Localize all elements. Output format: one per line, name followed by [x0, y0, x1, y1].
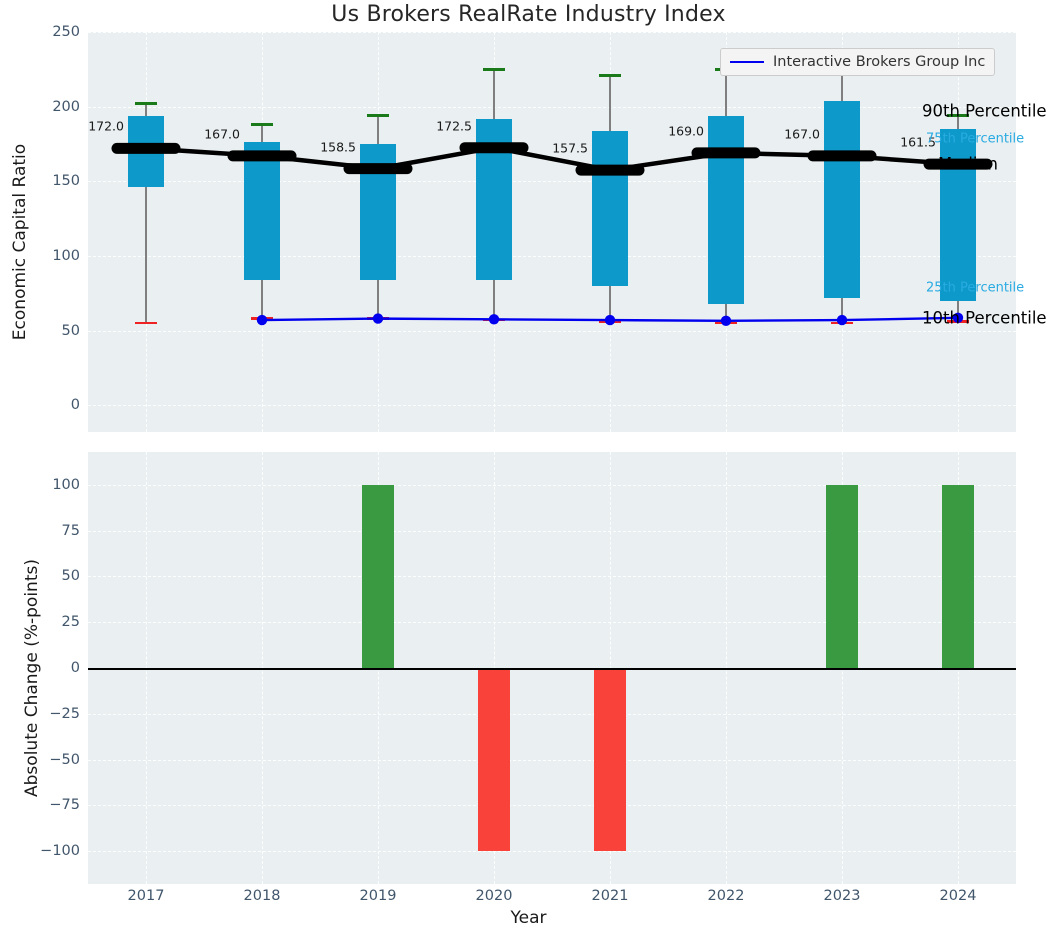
gridline	[88, 622, 1016, 623]
gridline	[88, 531, 1016, 532]
y-tick-label: 100	[28, 248, 80, 264]
x-tick-label: 2021	[592, 888, 629, 904]
y-tick-label: 150	[28, 173, 80, 189]
bar	[594, 668, 626, 851]
bar	[478, 668, 510, 851]
bar	[362, 485, 394, 668]
y-tick-label: 0	[28, 397, 80, 413]
median-value-label: 158.5	[320, 139, 356, 154]
gridline	[88, 714, 1016, 715]
interactive-brokers-data-point	[373, 313, 383, 323]
annotation-90th-percentile: 90th Percentile	[922, 102, 1047, 121]
y-tick-label: 100	[28, 477, 80, 493]
x-axis-label: Year	[0, 908, 1057, 928]
bottom-panel-y-axis-label: Absolute Change (%-points)	[22, 498, 42, 858]
interactive-brokers-data-point	[837, 315, 847, 325]
x-tick-label: 2023	[824, 888, 861, 904]
median-value-label: 172.0	[88, 119, 124, 134]
chart-figure: Us Brokers RealRate Industry Index 172.0…	[0, 0, 1057, 942]
y-tick-label: 50	[28, 323, 80, 339]
top-panel-y-axis-label: Economic Capital Ratio	[10, 72, 30, 412]
annotation-median: Median	[938, 155, 998, 174]
annotation-75th-percentile: 75th Percentile	[926, 132, 1024, 147]
annotation-25th-percentile: 25th Percentile	[926, 281, 1024, 296]
y-tick-label: 250	[28, 24, 80, 40]
x-tick-label: 2019	[360, 888, 397, 904]
x-tick-label: 2017	[128, 888, 165, 904]
bottom-panel-plot-area	[88, 452, 1016, 884]
bar	[942, 485, 974, 668]
gridline	[88, 805, 1016, 806]
top-panel-lines	[88, 32, 1016, 432]
gridline	[88, 760, 1016, 761]
median-value-label: 169.0	[668, 123, 704, 138]
gridline	[88, 485, 1016, 486]
interactive-brokers-data-point	[489, 314, 499, 324]
legend-label-interactive-brokers: Interactive Brokers Group Inc	[773, 54, 985, 70]
gridline	[88, 851, 1016, 852]
annotation-10th-percentile: 10th Percentile	[922, 309, 1047, 328]
top-panel-plot-area: 172.0167.0158.5172.5157.5169.0167.0161.5	[88, 32, 1016, 432]
x-tick-label: 2022	[708, 888, 745, 904]
y-tick-label: 200	[28, 99, 80, 115]
x-tick-label: 2018	[244, 888, 281, 904]
zero-baseline	[88, 668, 1016, 670]
interactive-brokers-data-point	[605, 315, 615, 325]
legend[interactable]: Interactive Brokers Group Inc	[720, 48, 995, 76]
median-value-label: 167.0	[784, 126, 820, 141]
median-value-label: 167.0	[204, 126, 240, 141]
x-tick-label: 2024	[940, 888, 977, 904]
gridline	[88, 576, 1016, 577]
page-title: Us Brokers RealRate Industry Index	[0, 2, 1057, 27]
interactive-brokers-data-point	[721, 316, 731, 326]
legend-line-swatch	[730, 61, 764, 63]
median-value-label: 172.5	[436, 118, 472, 133]
x-tick-label: 2020	[476, 888, 513, 904]
bar	[826, 485, 858, 668]
interactive-brokers-data-point	[257, 315, 267, 325]
median-value-label: 157.5	[552, 141, 588, 156]
